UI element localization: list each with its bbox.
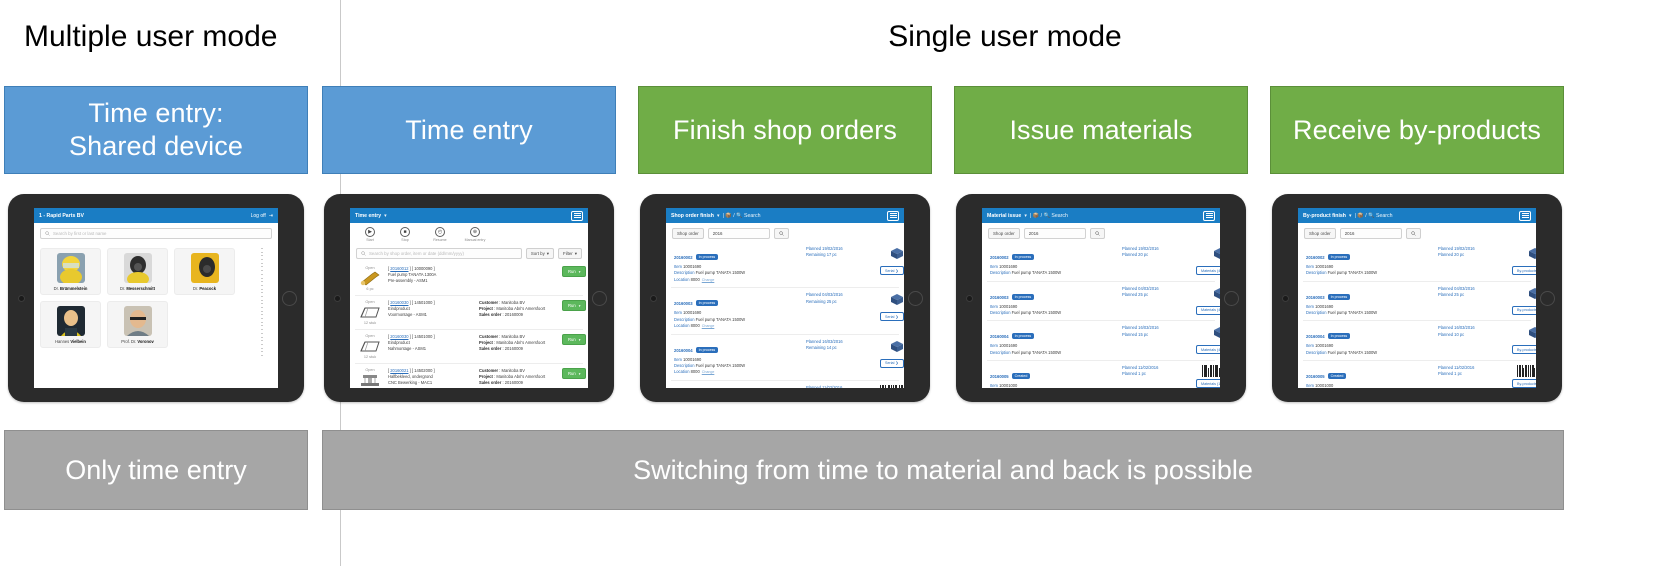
time-entry-toolbar: ▶ Start ■ Stop ◴ Resume ⊕ Manual entry (350, 223, 588, 243)
row-order-line: 20160005Created (990, 365, 1118, 383)
material-issue-list: 20160002In process Item 10001690 Descrip… (982, 242, 1220, 388)
menu-icon[interactable] (887, 211, 899, 221)
row-main: 20160003In process Item 10001690 Descrip… (1306, 286, 1434, 317)
screen-shared-device: 1 - Rapid Parts BV Log off ⇥ Search by f… (34, 208, 278, 388)
filter-label: Filter (563, 251, 573, 256)
row-description: Description Fuel pump TANATA 1500W (1306, 310, 1434, 316)
run-button[interactable]: Run▾ (562, 334, 586, 345)
toolbar-start-button[interactable]: ▶ Start (358, 227, 382, 242)
row-main: 20160002In process Item 10001690 Descrip… (1306, 246, 1434, 277)
search-icon (1095, 231, 1100, 236)
row-meta: Customer : Manitoba BV Project : Manitob… (479, 368, 557, 386)
table-row[interactable]: 20160002In process Item 10001690 Descrip… (987, 242, 1215, 282)
shop-order-filter-input[interactable]: 2016 (1024, 228, 1086, 239)
row-main: 20160003In process Item 10001690 Descrip… (674, 292, 802, 329)
banner-time-entry[interactable]: Time entry (322, 86, 616, 174)
box-icon (890, 339, 904, 357)
run-button[interactable]: Run▾ (562, 266, 586, 277)
camera-icon (966, 295, 973, 302)
row-details: [ 20160021 ] [ 14502000 ] Halfbekleed, o… (388, 368, 474, 386)
row-planning: Planned 19/02/2016 Remaining 17 pc (806, 246, 876, 283)
status-badge: In process (1328, 333, 1351, 339)
row-order-line: 20160002In process (990, 246, 1118, 264)
chevron-down-icon: ▾ (579, 338, 581, 342)
status-badge: In process (1012, 254, 1035, 260)
row-planned-qty: Planned 15 pc (1122, 332, 1192, 338)
by-products-button[interactable]: By-products (1512, 379, 1536, 388)
row-planned-qty: Planned 25 pc (1122, 292, 1192, 298)
search-button[interactable] (1406, 228, 1421, 239)
run-label: Run (568, 269, 576, 274)
row-actions: Run▾ (562, 334, 586, 345)
table-row[interactable]: 20160004In process Item 10001690 Descrip… (671, 335, 899, 381)
appbar-title: Shop order finish (671, 213, 714, 219)
row-planning: Planned 16/03/2016 Remaining 14 pc (806, 339, 876, 376)
home-button-icon (1224, 291, 1239, 306)
tablet-shared-device: 1 - Rapid Parts BV Log off ⇥ Search by f… (8, 194, 304, 402)
appbar-title: By-product finish (1303, 213, 1346, 219)
search-row-time-entry: Search by shop order, item or date (dd/m… (350, 243, 588, 262)
row-planned-qty: Planned 1 pc (1438, 371, 1508, 377)
appbar-shop-order-finish: Shop order finish ▾ | 📦 / 🔍 Search (666, 208, 904, 223)
multiple-user-mode-title: Multiple user mode (24, 20, 277, 54)
screen-material-issue: Material issue ▾ | 📦 / 🔍 Search Shop ord… (982, 208, 1220, 388)
camera-icon (650, 295, 657, 302)
table-row[interactable]: 20160004In process Item 10001690 Descrip… (987, 321, 1215, 361)
row-actions: Serial ❯ (880, 292, 904, 329)
thumbnail-column: Open 6 pc (357, 266, 383, 291)
row-main: 20160005Created Item 10001000 Descriptio… (990, 365, 1118, 388)
row-actions: Materials (4) (1196, 246, 1220, 277)
run-button[interactable]: Run▾ (562, 300, 586, 311)
box-icon (1528, 286, 1536, 304)
person-card[interactable]: Dr. Brümmelstein (40, 248, 101, 295)
appbar-by-product-finish: By-product finish ▾ | 📦 / 🔍 Search (1298, 208, 1536, 223)
row-operation: Pre-assembly - ASM1 (388, 278, 474, 284)
row-sales-order: Sales order : 20160009 (479, 380, 557, 386)
search-row-people: Search by first or last name (34, 223, 278, 242)
table-row[interactable]: 20160003In process Item 10001690 Descrip… (1303, 282, 1531, 322)
status-badge: In process (1328, 254, 1351, 260)
avatar (57, 253, 85, 283)
serial-button[interactable]: Serial ❯ (880, 312, 904, 321)
chevron-down-icon: ▾ (579, 270, 581, 274)
row-planning: Planned 19/02/2016 Planned 20 pc (1122, 246, 1192, 277)
person-name: Hannes Vielbein (44, 339, 97, 344)
footer-switching-note: Switching from time to material and back… (322, 430, 1564, 510)
table-row[interactable]: 20160005Created Item 10001000 Descriptio… (987, 361, 1215, 388)
status-badge: In process (696, 347, 719, 353)
shop-order-filter-label[interactable]: Shop order (672, 228, 704, 239)
status-badge: In process (1328, 294, 1351, 300)
row-state: Open (357, 368, 383, 372)
toolbar-label: Manual entry (463, 238, 487, 242)
row-item: Item 10001000 (1306, 383, 1434, 388)
row-location: Location 8000Change (674, 323, 802, 330)
change-link[interactable]: Change (702, 370, 715, 374)
table-row[interactable]: 20160004In process Item 10001690 Descrip… (1303, 321, 1531, 361)
row-remaining: Remaining 25 pc (806, 299, 876, 305)
row-order-line: 20160002In process (1306, 246, 1434, 264)
status-badge: In process (1012, 333, 1035, 339)
search-button[interactable] (774, 228, 789, 239)
row-actions: Serial ❯ (880, 339, 904, 376)
row-planning: Planned 11/02/2016 Planned 1 pc (1438, 365, 1508, 388)
menu-icon[interactable] (571, 211, 583, 221)
screen-by-product-finish: By-product finish ▾ | 📦 / 🔍 Search Shop … (1298, 208, 1536, 388)
row-state: Open (357, 266, 383, 270)
table-row[interactable]: 20160005Created Item 10001000 Descriptio… (671, 381, 899, 388)
chevron-down-icon[interactable]: ▾ (717, 213, 720, 219)
person-name: Dr. Peacock (178, 286, 231, 291)
filter-row-shop-order: Shop order 2016 (982, 223, 1220, 242)
row-main: 20160004In process Item 10001690 Descrip… (674, 339, 802, 376)
status-badge: In process (1012, 294, 1035, 300)
row-order-line: 20160004In process (1306, 325, 1434, 343)
appbar-title: Material issue (987, 213, 1021, 219)
row-actions: By-products (1512, 246, 1536, 277)
time-entry-list: Open 6 pc [ 20160012 ] [ 10000090 ] Fuel… (350, 262, 588, 388)
chevron-down-icon: ▾ (579, 304, 581, 308)
chevron-down-icon[interactable]: ▾ (384, 213, 387, 219)
frame-icon (359, 339, 381, 354)
row-details: [ 20160012 ] [ 10000090 ] Fuel pump TANA… (388, 266, 474, 284)
search-icon (1411, 231, 1416, 236)
machine-icon (359, 373, 381, 388)
by-product-list: 20160002In process Item 10001690 Descrip… (1298, 242, 1536, 388)
materials-button[interactable]: Materials (4) (1196, 345, 1220, 354)
home-button-icon (908, 291, 923, 306)
frame-icon (359, 305, 381, 320)
clock-icon: ◴ (435, 227, 445, 237)
row-description: Description Fuel pump TANATA 1500W (1306, 270, 1434, 276)
table-row[interactable]: 20160005Created Item 10001000 Descriptio… (1303, 361, 1531, 388)
wrench-icon (359, 271, 381, 286)
manual-entry-icon: ⊕ (470, 227, 480, 237)
sort-by-label: Sort by (531, 251, 545, 256)
chevron-down-icon: ▾ (579, 372, 581, 376)
slide-canvas: Multiple user mode Single user mode Time… (0, 0, 1680, 566)
row-actions: Serial ❯ (880, 246, 904, 283)
single-user-mode-title: Single user mode (355, 20, 1655, 54)
home-button-icon (592, 291, 607, 306)
row-order-line: 20160005Created (1306, 365, 1434, 383)
toolbar-manual-entry-button[interactable]: ⊕ Manual entry (463, 227, 487, 242)
scrollbar-track[interactable] (261, 248, 264, 356)
list-item[interactable]: Open 12 stuk [ 20160030 ] [ 14501000 ] E… (355, 296, 583, 330)
tablet-time-entry: Time entry ▾ ▶ Start ■ Stop ◴ Resume (324, 194, 614, 402)
row-main: 20160004In process Item 10001690 Descrip… (990, 325, 1118, 356)
row-planning: Planned 04/03/2016 Remaining 25 pc (806, 292, 876, 329)
row-quantity: 12 stuk (357, 355, 383, 359)
status-badge: In process (696, 300, 719, 306)
banner-finish-shop-orders[interactable]: Finish shop orders (638, 86, 932, 174)
home-button-icon (282, 291, 297, 306)
row-planning: Planned 04/03/2016 Planned 25 pc (1438, 286, 1508, 317)
row-order-line: 20160004In process (674, 339, 802, 357)
row-planning: Planned 11/02/2016 Planned 1 pc (1122, 365, 1192, 388)
search-input-people[interactable]: Search by first or last name (40, 228, 272, 239)
screen-shop-order-finish: Shop order finish ▾ | 📦 / 🔍 Search Shop … (666, 208, 904, 388)
logoff-button[interactable]: Log off (251, 213, 266, 219)
toolbar-label: Stop (393, 238, 417, 242)
shop-order-filter-label[interactable]: Shop order (1304, 228, 1336, 239)
thumbnail-column: Open 12 stuk (357, 300, 383, 325)
search-button[interactable] (1090, 228, 1105, 239)
box-icon (1528, 325, 1536, 343)
row-planning: Planned 16/03/2016 Planned 15 pc (1122, 325, 1192, 356)
row-planning: Planned 04/03/2016 Planned 25 pc (1122, 286, 1192, 317)
change-link[interactable]: Change (702, 324, 715, 328)
status-badge: Created (1012, 373, 1031, 379)
person-card[interactable]: Dr. Messerschmitt (107, 248, 168, 295)
chevron-down-icon[interactable]: ▾ (1349, 213, 1352, 219)
materials-button[interactable]: Materials (4) (1196, 306, 1220, 315)
table-row[interactable]: 20160002In process Item 10001690 Descrip… (671, 242, 899, 288)
avatar (57, 306, 85, 336)
home-button-icon (1540, 291, 1555, 306)
chevron-down-icon[interactable]: ▾ (1024, 213, 1027, 219)
people-grid: Dr. Brümmelstein Dr. Messerschmitt Dr. P… (34, 242, 278, 354)
row-description: Description Fuel pump TANATA 1500W (1306, 350, 1434, 356)
appbar-title: 1 - Rapid Parts BV (39, 213, 84, 219)
stop-icon: ■ (400, 227, 410, 237)
row-planned-qty: Planned 1 pc (1122, 371, 1192, 377)
tablet-material-issue: Material issue ▾ | 📦 / 🔍 Search Shop ord… (956, 194, 1246, 402)
row-state: Open (357, 300, 383, 304)
toolbar-label: Start (358, 238, 382, 242)
row-state: Open (357, 334, 383, 338)
row-main: 20160003In process Item 10001690 Descrip… (990, 286, 1118, 317)
appbar-shared-device: 1 - Rapid Parts BV Log off ⇥ (34, 208, 278, 223)
run-label: Run (568, 371, 576, 376)
breadcrumb[interactable]: | 📦 / 🔍 Search (723, 213, 761, 219)
box-icon (1213, 286, 1220, 304)
filter-value: 2016 (1345, 231, 1355, 236)
row-details: [ 20160030 ] [ 14501000 ] Eindproduct Na… (388, 334, 474, 352)
row-description: Description Fuel pump TANATA 1500W (990, 350, 1118, 356)
materials-button[interactable]: Materials (1) (1196, 379, 1220, 388)
row-planned-qty: Planned 20 pc (1122, 252, 1192, 258)
row-meta: Customer : Manitoba BV Project : Manitob… (479, 300, 557, 318)
camera-icon (1282, 295, 1289, 302)
row-planned-qty: Planned 10 pc (1438, 332, 1508, 338)
barcode-icon (1202, 365, 1220, 377)
breadcrumb[interactable]: | 📦 / 🔍 Search (1355, 213, 1393, 219)
row-actions: Materials (1) (1196, 365, 1220, 388)
banner-issue-materials[interactable]: Issue materials (954, 86, 1248, 174)
row-operation: Voormontage - ASM1 (388, 312, 474, 318)
by-products-button[interactable]: By-products (1512, 345, 1536, 354)
barcode-icon (880, 385, 904, 388)
tablet-shop-order-finish: Shop order finish ▾ | 📦 / 🔍 Search Shop … (640, 194, 930, 402)
row-quantity: 12 stuk (357, 321, 383, 325)
row-details: [ 20160030 ] [ 14501000 ] Eindproduct Vo… (388, 300, 474, 318)
thumbnail-column: Open 40 stuk (357, 368, 383, 388)
search-icon (779, 231, 784, 236)
row-description: Description Fuel pump TANATA 1500W (990, 310, 1118, 316)
row-main: 20160002In process Item 10001690 Descrip… (674, 246, 802, 283)
sort-by-button[interactable]: Sort by ▾ (526, 248, 554, 259)
row-planned: Planned 11/02/2016 (806, 385, 876, 388)
search-icon (45, 231, 50, 236)
row-actions: Materials (4) (1196, 286, 1220, 317)
filter-row-shop-order: Shop order 2016 (1298, 223, 1536, 242)
search-placeholder: Search by first or last name (53, 231, 106, 236)
row-actions: Materials (4) (1196, 325, 1220, 356)
search-placeholder: Search by shop order, item or date (dd/m… (369, 251, 464, 256)
by-products-button[interactable]: By-products (1512, 306, 1536, 315)
row-planned-qty: Planned 25 pc (1438, 292, 1508, 298)
row-description: Description Fuel pump TANATA 1500W (990, 270, 1118, 276)
shop-order-list: 20160002In process Item 10001690 Descrip… (666, 242, 904, 388)
row-order-line: 20160004In process (990, 325, 1118, 343)
filter-row-shop-order: Shop order 2016 (666, 223, 904, 242)
shop-order-filter-label[interactable]: Shop order (988, 228, 1020, 239)
chevron-down-icon: ▾ (547, 251, 549, 257)
run-label: Run (568, 337, 576, 342)
appbar-title: Time entry (355, 213, 381, 219)
person-card[interactable]: Prof. Dr. Voronov (107, 301, 168, 348)
avatar (191, 253, 219, 283)
serial-button[interactable]: Serial ❯ (880, 266, 904, 275)
toolbar-stop-button[interactable]: ■ Stop (393, 227, 417, 242)
row-actions: Run▾ (562, 300, 586, 311)
row-planning: Planned 11/02/2016 Remaining 3 pc Quanti… (806, 385, 876, 388)
breadcrumb[interactable]: | 📦 / 🔍 Search (1030, 213, 1068, 219)
appbar-material-issue: Material issue ▾ | 📦 / 🔍 Search (982, 208, 1220, 223)
box-icon (890, 246, 904, 264)
list-item[interactable]: Open 40 stuk [ 20160021 ] [ 14502000 ] H… (355, 364, 583, 388)
row-operation: Nahmontage - ASM1 (388, 346, 474, 352)
row-remaining: Remaining 17 pc (806, 252, 876, 258)
row-item: Item 10001000 (990, 383, 1118, 388)
row-sales-order: Sales order : 20160009 (479, 346, 557, 352)
row-order-line: 20160003In process (674, 292, 802, 310)
banner-receive-by-products[interactable]: Receive by-products (1270, 86, 1564, 174)
row-sales-order: Sales order : 20160009 (479, 312, 557, 318)
banner-line-1: Time entry: (69, 97, 243, 130)
row-main: 20160005Created Item 10001000 Descriptio… (674, 385, 802, 388)
by-products-button[interactable]: By-products (1512, 266, 1536, 275)
table-row[interactable]: 20160002In process Item 10001690 Descrip… (1303, 242, 1531, 282)
row-planning: Planned 19/02/2016 Planned 20 pc (1438, 246, 1508, 277)
row-planned-qty: Planned 20 pc (1438, 252, 1508, 258)
box-icon (1213, 246, 1220, 264)
run-button[interactable]: Run▾ (562, 368, 586, 379)
banner-line-2: Shared device (69, 130, 243, 163)
box-icon (890, 292, 904, 310)
chevron-down-icon: ▾ (575, 251, 577, 257)
box-icon (1213, 325, 1220, 343)
change-link[interactable]: Change (702, 278, 715, 282)
logoff-icon: ⇥ (269, 213, 273, 219)
row-operation: CNC Bewerking - MAC1 (388, 380, 474, 386)
play-icon: ▶ (365, 227, 375, 237)
table-row[interactable]: 20160003In process Item 10001690 Descrip… (987, 282, 1215, 322)
table-row[interactable]: 20160003In process Item 10001690 Descrip… (671, 288, 899, 334)
row-order-line: 20160003In process (990, 286, 1118, 304)
row-meta: Customer : Manitoba BV Project : Manitob… (479, 334, 557, 352)
toolbar-resume-button[interactable]: ◴ Resume (428, 227, 452, 242)
person-name: Dr. Brümmelstein (44, 286, 97, 291)
row-quantity: 6 pc (357, 287, 383, 291)
filter-button[interactable]: Filter ▾ (558, 248, 582, 259)
avatar (124, 306, 152, 336)
filter-value: 2016 (713, 231, 723, 236)
row-actions: Run▾ (562, 266, 586, 277)
tablet-by-product-finish: By-product finish ▾ | 📦 / 🔍 Search Shop … (1272, 194, 1562, 402)
row-main: 20160005Created Item 10001000 Descriptio… (1306, 365, 1434, 388)
toolbar-label: Resume (428, 238, 452, 242)
row-remaining: Remaining 14 pc (806, 345, 876, 351)
person-name: Dr. Messerschmitt (111, 286, 164, 291)
materials-button[interactable]: Materials (4) (1196, 266, 1220, 275)
avatar (124, 253, 152, 283)
status-badge: Created (1328, 373, 1347, 379)
search-input-shop-orders[interactable]: Search by shop order, item or date (dd/m… (356, 248, 522, 259)
person-card[interactable]: Hannes Vielbein (40, 301, 101, 348)
banner-time-entry-shared-device[interactable]: Time entry: Shared device (4, 86, 308, 174)
list-item[interactable]: Open 6 pc [ 20160012 ] [ 10000090 ] Fuel… (355, 262, 583, 296)
filter-value: 2016 (1029, 231, 1039, 236)
row-actions: By-products (1512, 365, 1536, 388)
row-order-line: 20160003In process (1306, 286, 1434, 304)
row-actions: By-products (1512, 286, 1536, 317)
person-card[interactable]: Dr. Peacock (174, 248, 235, 295)
list-item[interactable]: Open 12 stuk [ 20160030 ] [ 14501000 ] E… (355, 330, 583, 364)
row-main: 20160004In process Item 10001690 Descrip… (1306, 325, 1434, 356)
row-order-line: 20160002In process (674, 246, 802, 264)
shop-order-filter-input[interactable]: 2016 (708, 228, 770, 239)
row-order-line: 20160005Created (674, 385, 802, 388)
run-label: Run (568, 303, 576, 308)
camera-icon (334, 295, 341, 302)
search-icon (361, 251, 366, 256)
menu-icon[interactable] (1519, 211, 1531, 221)
thumbnail-column: Open 12 stuk (357, 334, 383, 359)
menu-icon[interactable] (1203, 211, 1215, 221)
barcode-icon (1517, 365, 1536, 377)
row-location: Location 8000Change (674, 369, 802, 376)
camera-icon (18, 295, 25, 302)
row-main: 20160002In process Item 10001690 Descrip… (990, 246, 1118, 277)
shop-order-filter-input[interactable]: 2016 (1340, 228, 1402, 239)
appbar-time-entry: Time entry ▾ (350, 208, 588, 223)
footer-only-time-entry: Only time entry (4, 430, 308, 510)
serial-button[interactable]: Serial ❯ (880, 359, 904, 368)
screen-time-entry: Time entry ▾ ▶ Start ■ Stop ◴ Resume (350, 208, 588, 388)
row-actions: Run▾ (562, 368, 586, 379)
person-name: Prof. Dr. Voronov (111, 339, 164, 344)
row-actions: Finish (880, 385, 904, 388)
row-planning: Planned 16/03/2016 Planned 10 pc (1438, 325, 1508, 356)
row-location: Location 8000Change (674, 277, 802, 284)
box-icon (1528, 246, 1536, 264)
row-actions: By-products (1512, 325, 1536, 356)
status-badge: In process (696, 254, 719, 260)
